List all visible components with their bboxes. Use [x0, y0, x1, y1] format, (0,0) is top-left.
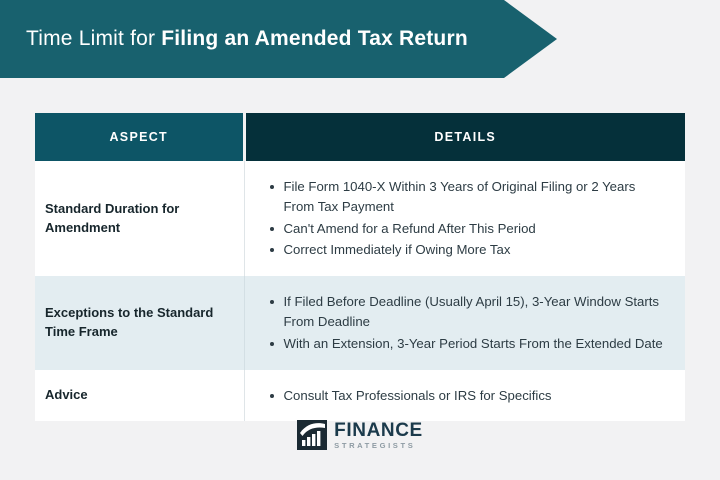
- aspect-label: Standard Duration for Amendment: [45, 200, 230, 238]
- details-list: If Filed Before Deadline (Usually April …: [267, 292, 670, 353]
- list-item: With an Extension, 3-Year Period Starts …: [267, 334, 670, 354]
- brand-name: FINANCE: [334, 421, 423, 440]
- page-title-bold: Filing an Amended Tax Return: [161, 27, 468, 50]
- table-row: Advice Consult Tax Professionals or IRS …: [35, 370, 685, 422]
- table-body: Standard Duration for Amendment File For…: [35, 161, 685, 421]
- list-item: File Form 1040-X Within 3 Years of Origi…: [267, 177, 670, 217]
- page-title-regular: Time Limit for: [26, 27, 161, 50]
- details-list: Consult Tax Professionals or IRS for Spe…: [267, 386, 670, 406]
- table-row: Standard Duration for Amendment File For…: [35, 161, 685, 276]
- table-header-row: ASPECT DETAILS: [35, 113, 685, 161]
- list-item: Can't Amend for a Refund After This Peri…: [267, 219, 670, 239]
- cell-aspect: Exceptions to the Standard Time Frame: [35, 276, 244, 369]
- comparison-table: ASPECT DETAILS Standard Duration for Ame…: [35, 113, 685, 421]
- brand-tagline: STRATEGISTS: [334, 442, 423, 450]
- list-item: Consult Tax Professionals or IRS for Spe…: [267, 386, 670, 406]
- table-row: Exceptions to the Standard Time Frame If…: [35, 276, 685, 369]
- column-header-aspect: ASPECT: [35, 113, 244, 161]
- column-header-details: DETAILS: [244, 113, 685, 161]
- list-item: If Filed Before Deadline (Usually April …: [267, 292, 670, 332]
- page-title: Time Limit for Filing an Amended Tax Ret…: [0, 27, 468, 50]
- cell-aspect: Standard Duration for Amendment: [35, 161, 244, 276]
- brand-logo-text: FINANCE STRATEGISTS: [334, 421, 423, 450]
- details-list: File Form 1040-X Within 3 Years of Origi…: [267, 177, 670, 260]
- brand-logo: FINANCE STRATEGISTS: [0, 420, 720, 450]
- banner-shape: Time Limit for Filing an Amended Tax Ret…: [0, 0, 560, 78]
- cell-details: Consult Tax Professionals or IRS for Spe…: [244, 370, 685, 422]
- finance-strategists-bar-chart-icon: [297, 420, 327, 450]
- cell-aspect: Advice: [35, 370, 244, 422]
- cell-details: If Filed Before Deadline (Usually April …: [244, 276, 685, 369]
- cell-details: File Form 1040-X Within 3 Years of Origi…: [244, 161, 685, 276]
- table-header: ASPECT DETAILS: [35, 113, 685, 161]
- header-banner: Time Limit for Filing an Amended Tax Ret…: [0, 0, 560, 78]
- list-item: Correct Immediately if Owing More Tax: [267, 240, 670, 260]
- aspect-label: Advice: [45, 386, 230, 405]
- aspect-label: Exceptions to the Standard Time Frame: [45, 304, 230, 342]
